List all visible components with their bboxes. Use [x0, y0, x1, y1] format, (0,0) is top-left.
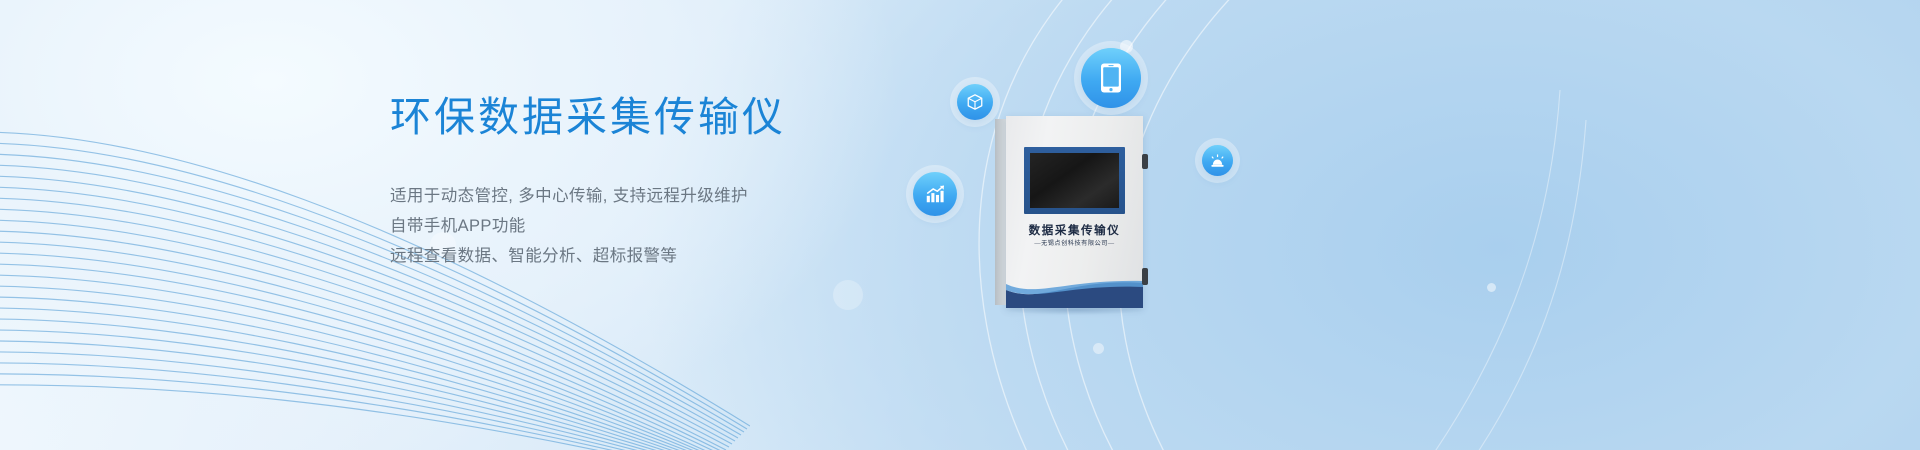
box-icon [957, 84, 993, 120]
device-front-panel: 数据采集传输仪 —无锡点创科技有限公司— [1006, 116, 1143, 308]
device-screen [1030, 153, 1119, 208]
banner-copy: 环保数据采集传输仪 适用于动态管控, 多中心传输, 支持远程升级维护 自带手机A… [390, 92, 950, 271]
subtitle-line-1: 适用于动态管控, 多中心传输, 支持远程升级维护 [390, 181, 950, 211]
bokeh-circle [833, 280, 863, 310]
device-screen-bezel [1024, 147, 1125, 214]
phone-icon [1081, 48, 1141, 108]
device-company-label: —无锡点创科技有限公司— [1006, 238, 1143, 247]
subtitle-line-3: 远程查看数据、智能分析、超标报警等 [390, 241, 950, 271]
subtitle-block: 适用于动态管控, 多中心传输, 支持远程升级维护 自带手机APP功能 远程查看数… [390, 181, 950, 271]
device-connector [1142, 268, 1148, 285]
product-banner: 环保数据采集传输仪 适用于动态管控, 多中心传输, 支持远程升级维护 自带手机A… [0, 0, 1920, 450]
device-title-label: 数据采集传输仪 [1006, 222, 1143, 238]
device-connector [1142, 154, 1148, 169]
page-title: 环保数据采集传输仪 [390, 92, 950, 143]
device-photo: 数据采集传输仪 —无锡点创科技有限公司— [995, 116, 1143, 308]
subtitle-line-2: 自带手机APP功能 [390, 211, 950, 241]
arc-decoration [860, 0, 1600, 450]
chart-icon [913, 172, 957, 216]
device-wave-graphic [1006, 270, 1143, 308]
alarm-icon [1202, 145, 1233, 176]
